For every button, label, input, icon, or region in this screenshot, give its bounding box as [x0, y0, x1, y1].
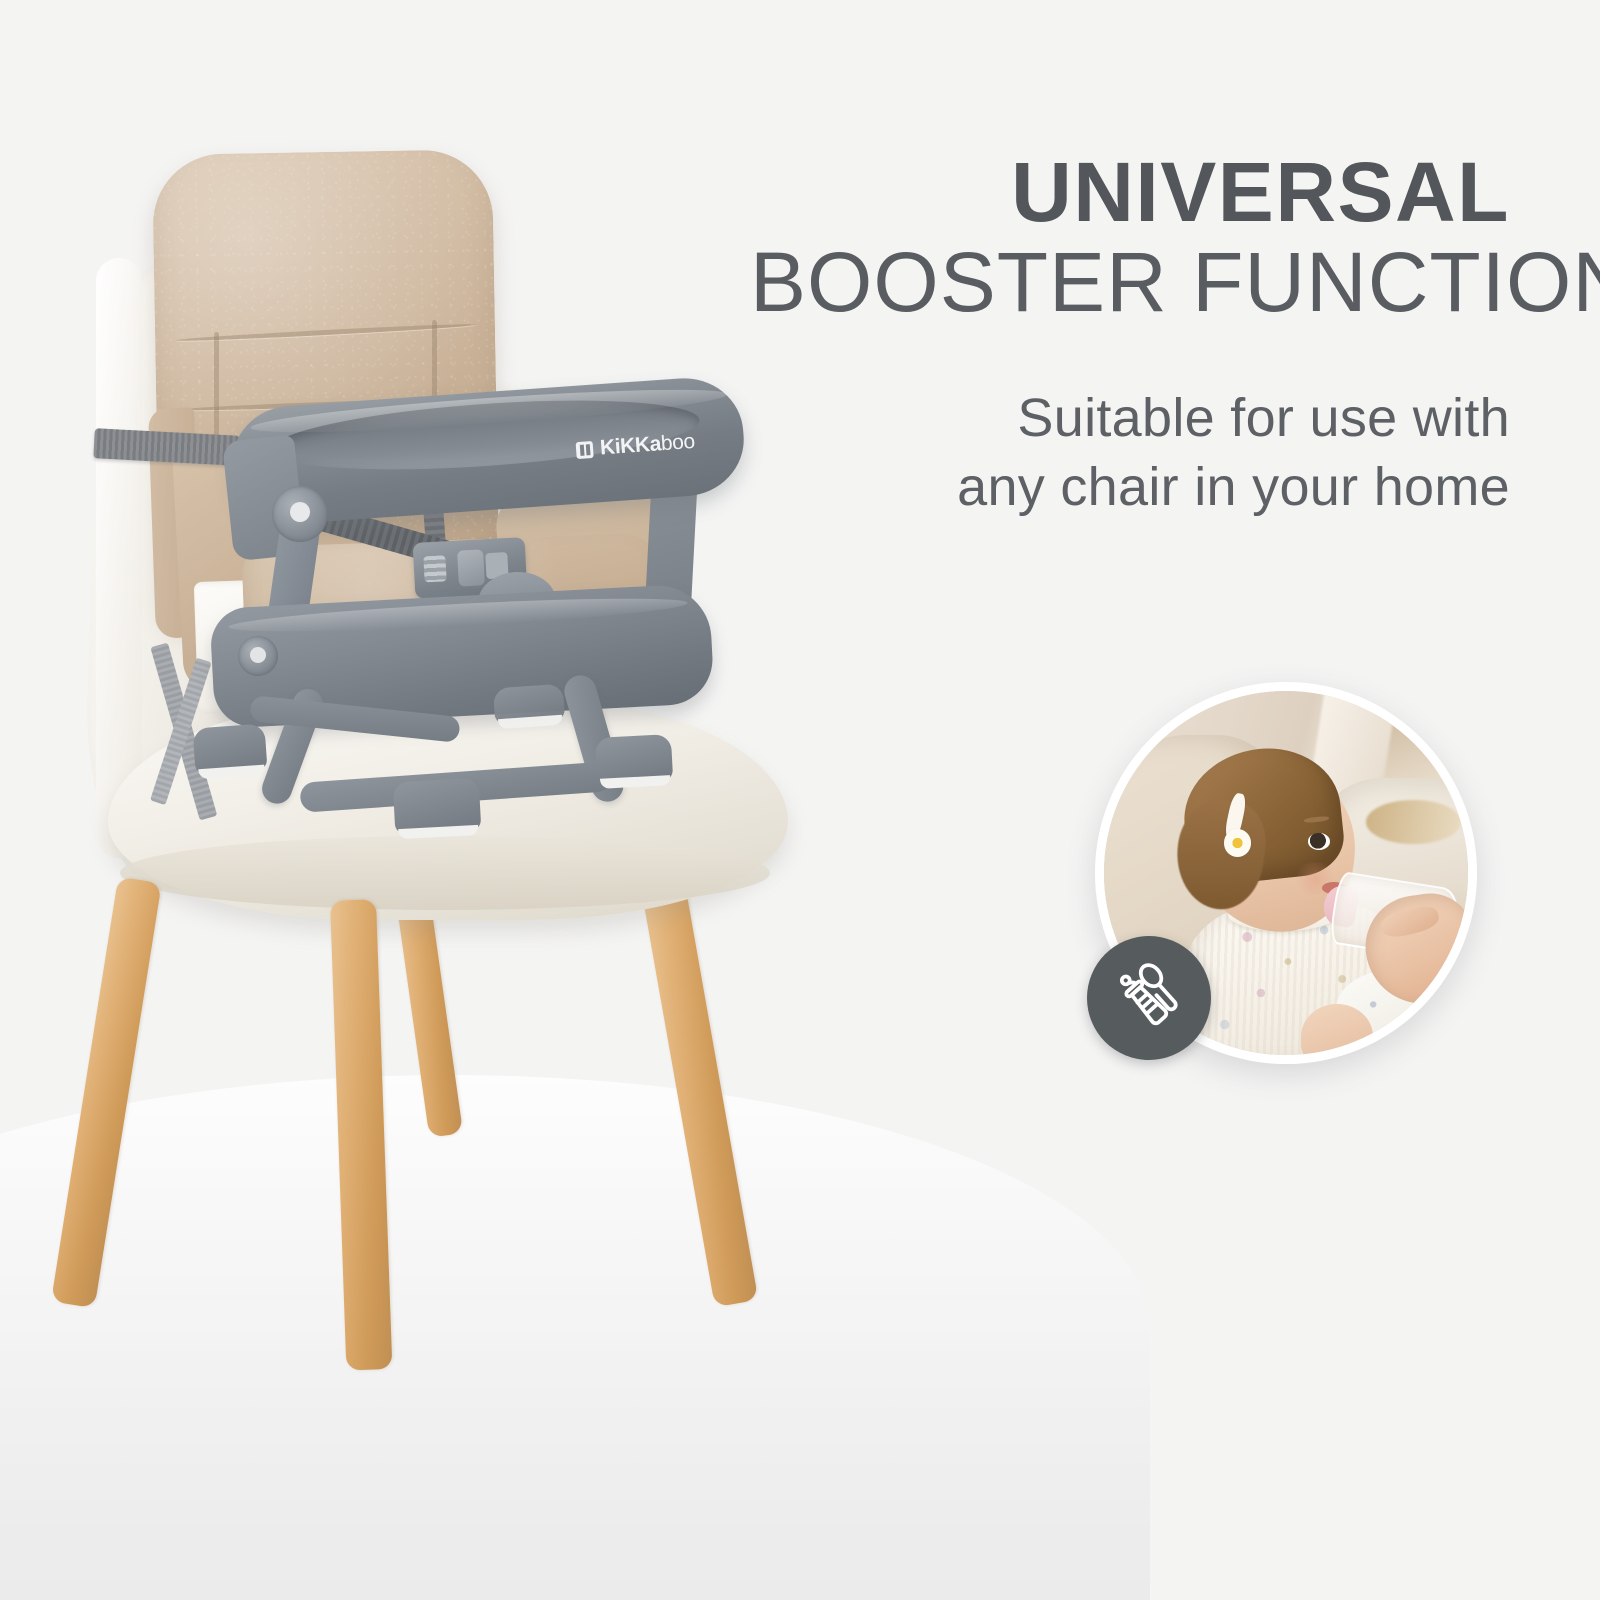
feeding-badge — [1087, 936, 1211, 1060]
booster-foot-rear — [493, 684, 565, 725]
kikkaboo-k-mark-icon — [576, 440, 594, 458]
chair-seat-lip — [120, 836, 770, 910]
lifestyle-inset: Baby girl with a daisy hair clip drinkin… — [1095, 682, 1477, 1064]
brand-word-bold: KiKKa — [599, 432, 661, 459]
daisy-flower-icon — [1224, 829, 1251, 856]
headline-line-2: BOOSTER FUNCTION — [750, 240, 1510, 326]
subtitle-block: Suitable for use with any chair in your … — [750, 384, 1510, 522]
subtitle-line-1: Suitable for use with — [750, 384, 1510, 453]
scene-bouncer-rim — [1366, 800, 1461, 844]
bottle-and-spoon-icon — [1110, 959, 1188, 1037]
subtitle-line-2: any chair in your home — [750, 453, 1510, 522]
headline-block: UNIVERSAL BOOSTER FUNCTION Suitable for … — [750, 150, 1510, 522]
promo-banner: KiKKaboo Kikka boo booster seat with tra… — [0, 0, 1600, 1600]
booster-hinge-lower — [238, 636, 278, 676]
headline-line-1: UNIVERSAL — [750, 150, 1510, 234]
booster-foot-left — [192, 724, 267, 775]
booster-hinge-upper — [272, 486, 328, 542]
booster-foot-front — [393, 778, 482, 834]
booster-foot-right — [595, 734, 673, 784]
baby-eye — [1308, 833, 1330, 850]
product-photo: KiKKaboo Kikka boo booster seat with tra… — [0, 0, 860, 1600]
brand-word-thin: boo — [660, 430, 695, 455]
round-table — [0, 1075, 1150, 1600]
product-photo-alt: Kikka boo booster seat with tray mounted… — [0, 0, 1, 1]
